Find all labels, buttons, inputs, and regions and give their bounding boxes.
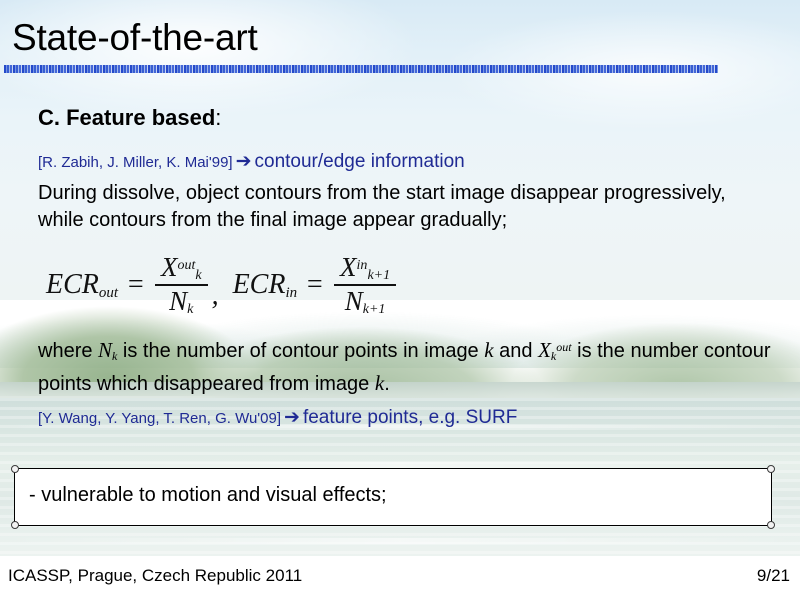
resize-handle-top-right[interactable] [767,465,775,473]
equation-right-symbol: ECR [233,269,286,300]
body-paragraph-1: During dissolve, object contours from th… [38,180,768,234]
section-heading-text: C. Feature based [38,105,215,130]
equation-left-side: ECRout = Xoutk Nk [46,252,210,318]
math3-var: X [538,338,551,362]
citation-2-reference: [Y. Wang, Y. Yang, T. Ren, G. Wu'09] [38,410,281,427]
arrow-right-icon: ➔ [281,406,303,428]
equation-right-numerator: Xink+1 [334,252,396,284]
math1-var: N [98,338,112,362]
resize-handle-bottom-left[interactable] [11,521,19,529]
left-num-var: X [161,252,178,282]
equation-separator: , [210,280,233,312]
inline-math-X-k-out: Xkout [538,338,572,362]
equation-right-side: ECRin = Xink+1 Nk+1 [233,252,399,318]
right-num-var: X [340,252,357,282]
callout-textbox[interactable]: - vulnerable to motion and visual effect… [14,468,772,526]
inline-math-N-k: Nk [98,338,117,362]
left-num-sup: out [177,258,195,273]
equation-left-symbol: ECR [46,269,99,300]
left-den-var: N [169,286,187,316]
left-num-sub: k [195,268,201,283]
equation-right-subscript: in [285,285,297,301]
right-den-sub: k+1 [363,302,386,317]
footer-page-number: 9/21 [757,566,790,586]
equation-right-fraction: Xink+1 Nk+1 [334,252,396,318]
arrow-right-icon: ➔ [233,150,255,172]
right-den-var: N [345,286,363,316]
right-num-sub: k+1 [367,268,390,283]
right-num-sup: in [357,258,368,273]
body-paragraph-2: where Nk is the number of contour points… [38,334,783,398]
equation-left-subscript: out [99,285,118,301]
slide-content: State-of-the-art C. Feature based: [R. Z… [0,0,800,598]
para2-part-1: where [38,340,98,362]
equation-right-denominator: Nk+1 [339,286,392,318]
slide-title: State-of-the-art [12,16,258,60]
presentation-slide: State-of-the-art C. Feature based: [R. Z… [0,0,800,598]
display-equation: ECRout = Xoutk Nk , ECRin = Xink+1 Nk+1 [46,252,398,318]
citation-1-reference: [R. Zabih, J. Miller, K. Mai'99] [38,154,233,171]
para2-part-2: is the number of contour points in image [117,340,484,362]
inline-math-k-1: k [484,338,493,362]
resize-handle-top-left[interactable] [11,465,19,473]
para2-part-3: and [494,340,538,362]
section-heading: C. Feature based: [38,105,221,131]
footer-conference-info: ICASSP, Prague, Czech Republic 2011 [8,566,302,586]
citation-1-description: contour/edge information [255,151,465,172]
left-den-sub: k [187,302,193,317]
citation-2-description: feature points, e.g. SURF [303,407,517,428]
inline-math-k-2: k [375,371,384,395]
math3-sup: out [556,340,571,354]
equation-equals-left: = [118,269,153,301]
equation-left-name: ECRout [46,269,118,302]
section-heading-colon: : [215,105,221,130]
equation-left-fraction: Xoutk Nk [155,252,208,318]
equation-left-numerator: Xoutk [155,252,208,284]
equation-right-name: ECRin [233,269,298,302]
citation-line-1: [R. Zabih, J. Miller, K. Mai'99]➔contour… [38,150,465,173]
equation-left-denominator: Nk [163,286,199,318]
citation-line-2: [Y. Wang, Y. Yang, T. Ren, G. Wu'09]➔fea… [38,406,517,429]
callout-text: - vulnerable to motion and visual effect… [29,484,387,507]
equation-equals-right: = [297,269,332,301]
para2-part-5: . [384,373,390,395]
title-divider-rule [4,65,718,73]
resize-handle-bottom-right[interactable] [767,521,775,529]
